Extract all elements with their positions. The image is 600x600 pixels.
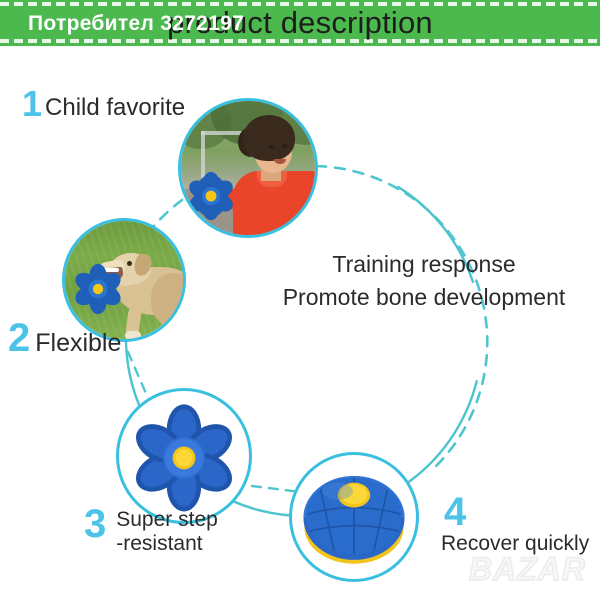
feature-label-1: 1 Child favorite — [22, 86, 185, 122]
feature-number-4: 4 — [444, 492, 466, 532]
flying-disc-icon-in-photo — [185, 171, 237, 221]
feature-text-3: Super step -resistant — [116, 508, 218, 555]
feature-label-3: 3 Super step -resistant — [84, 504, 218, 555]
product-description-infographic: product description Потребител 3272197 — [0, 0, 600, 600]
boy-playing-with-flying-disc-photo — [178, 98, 318, 238]
center-benefit-line-1: Training response — [250, 248, 598, 281]
feature-text-1: Child favorite — [45, 95, 185, 122]
feature-text-2: Flexible — [35, 329, 121, 357]
feature-text-3-line1: Super step — [116, 508, 218, 531]
seller-watermark: Потребител 3272197 — [28, 12, 244, 36]
feature-number-3: 3 — [84, 504, 106, 544]
feature-label-2: 2 Flexible — [8, 318, 121, 358]
feature-text-3-line2: -resistant — [116, 532, 202, 555]
center-benefit-text: Training response Promote bone developme… — [250, 248, 598, 313]
center-benefit-line-2: Promote bone development — [250, 281, 598, 314]
header-banner: product description Потребител 3272197 — [0, 0, 600, 46]
ball-product-photo — [289, 452, 419, 582]
feature-label-4: 4 Recover quickly — [444, 492, 466, 532]
feature-number-1: 1 — [22, 86, 42, 122]
flying-disc-icon-in-dog-photo — [71, 263, 125, 315]
bazar-watermark: BAZAR — [469, 551, 586, 588]
feature-number-2: 2 — [8, 318, 30, 358]
